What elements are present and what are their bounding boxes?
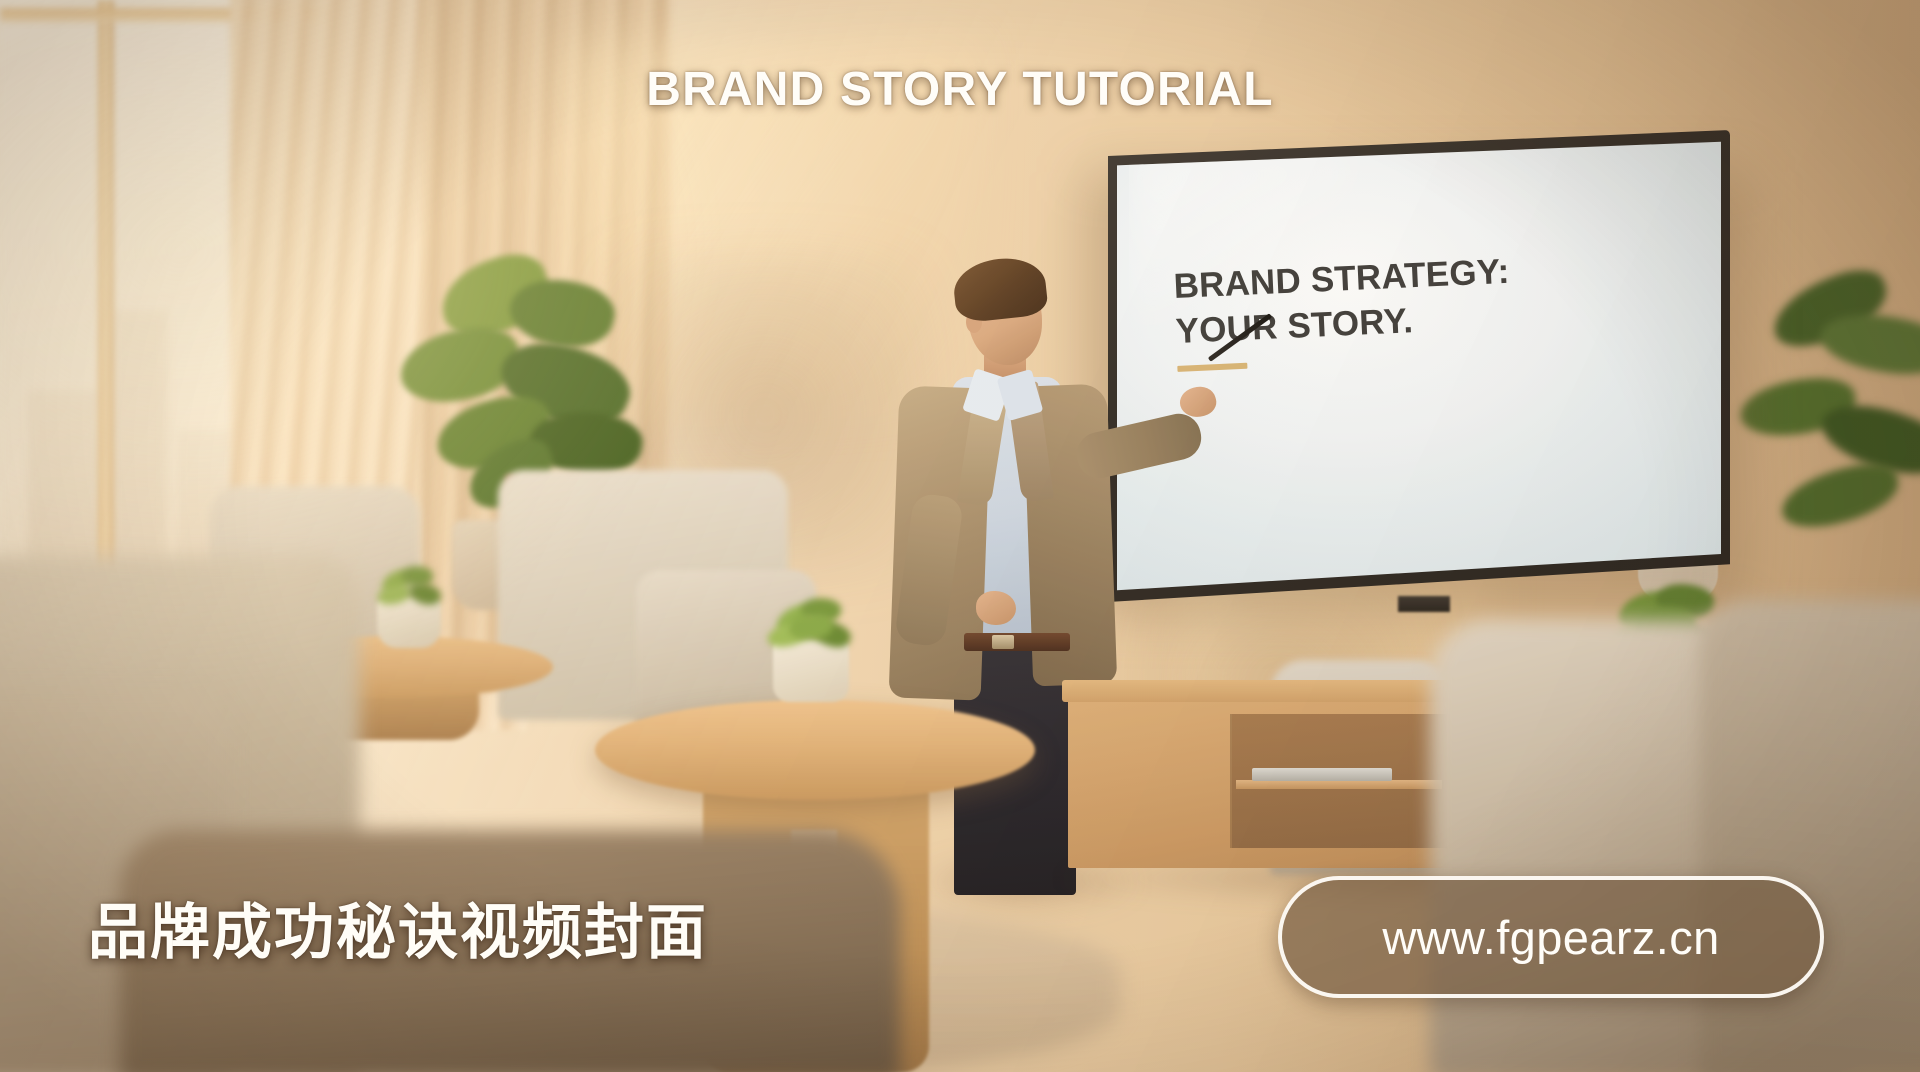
presentation-slide: BRAND STRATEGY: YOUR STORY. (1173, 249, 1617, 372)
console-shelf-board (1236, 780, 1442, 789)
console-door-seam (1230, 714, 1232, 848)
page-title: BRAND STORY TUTORIAL (0, 62, 1920, 117)
website-url-text: www.fgpearz.cn (1382, 910, 1719, 965)
table-front-succulent (767, 596, 857, 652)
armchair-foreground-far-right (1700, 600, 1920, 1072)
presenter-belt (964, 633, 1070, 651)
console-device (1252, 768, 1392, 781)
presenter-belt-buckle (992, 635, 1014, 649)
presenter-hand-left (976, 591, 1016, 625)
website-url-badge[interactable]: www.fgpearz.cn (1278, 876, 1824, 998)
wall-mounted-tv: BRAND STRATEGY: YOUR STORY. (1108, 130, 1730, 602)
table-front-top (595, 700, 1035, 800)
tv-screen: BRAND STRATEGY: YOUR STORY. (1117, 139, 1721, 593)
plant-right-edge (1750, 270, 1920, 570)
tv-wall-mount (1398, 596, 1450, 612)
slide-accent-rule (1177, 363, 1247, 372)
chinese-caption: 品牌成功秘诀视频封面 (88, 884, 708, 971)
cover-image: BRAND STRATEGY: YOUR STORY. (0, 0, 1920, 1072)
table-mid-succulent (375, 564, 445, 610)
presenter-hair (951, 254, 1049, 323)
